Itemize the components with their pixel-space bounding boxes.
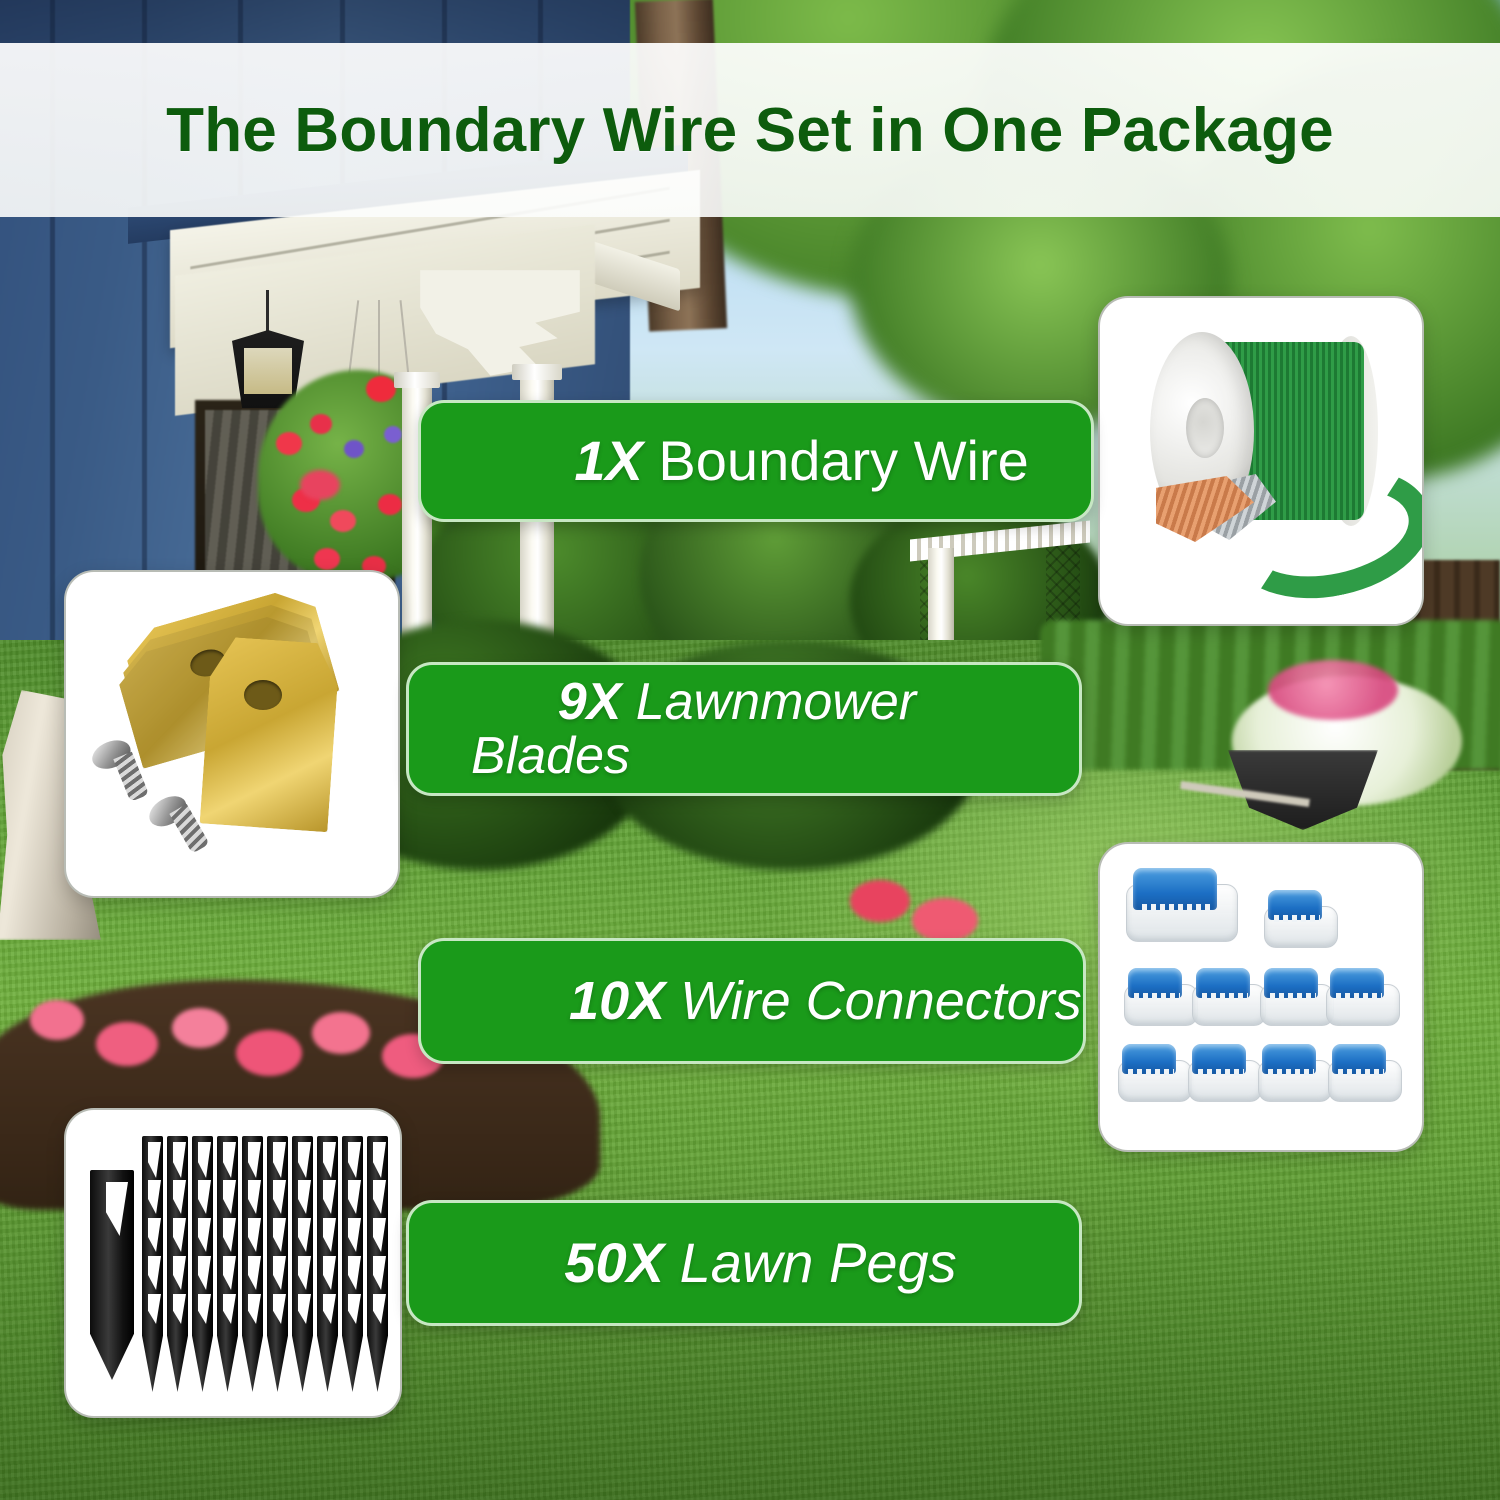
item-label: 10X Wire Connectors bbox=[479, 917, 1082, 1085]
item-bar-lawn-pegs[interactable]: 50X Lawn Pegs bbox=[406, 1200, 1082, 1326]
wire-connector bbox=[1192, 968, 1264, 1026]
item-bar-boundary-wire[interactable]: 1X Boundary Wire bbox=[418, 400, 1094, 522]
item-quantity: 50X bbox=[564, 1231, 664, 1294]
lawn-pegs-panel bbox=[64, 1108, 402, 1418]
wire-connector bbox=[1326, 968, 1398, 1026]
page-title: The Boundary Wire Set in One Package bbox=[0, 43, 1500, 217]
item-quantity: 9X bbox=[558, 673, 622, 731]
wire-connectors-panel bbox=[1098, 842, 1424, 1152]
item-name: Boundary Wire bbox=[658, 429, 1028, 492]
item-quantity: 10X bbox=[569, 971, 665, 1031]
product-infographic: The Boundary Wire Set in One Package 1X … bbox=[0, 0, 1500, 1500]
lawnmower-blades-panel bbox=[64, 570, 400, 898]
item-name: Wire Connectors bbox=[680, 971, 1082, 1031]
wire-connector bbox=[1260, 968, 1332, 1026]
lamp-chain bbox=[266, 290, 269, 332]
item-bar-wire-connectors[interactable]: 10X Wire Connectors bbox=[418, 938, 1086, 1064]
wire-connector bbox=[1124, 968, 1196, 1026]
title-banner: The Boundary Wire Set in One Package bbox=[0, 43, 1500, 217]
column-cap bbox=[394, 372, 440, 388]
wire-connector bbox=[1328, 1044, 1400, 1102]
pink-flowering-bush bbox=[1268, 660, 1398, 720]
wire-connector bbox=[1126, 868, 1236, 948]
item-bar-lawnmower-blades[interactable]: 9X Lawnmower Blades bbox=[406, 662, 1082, 796]
wire-connector bbox=[1118, 1044, 1190, 1102]
wire-connector bbox=[1258, 1044, 1330, 1102]
item-name: Lawn Pegs bbox=[680, 1231, 957, 1294]
lawnmower-blades-image bbox=[66, 572, 398, 896]
item-name: Lawnmower Blades bbox=[471, 673, 916, 785]
item-label: 50X Lawn Pegs bbox=[471, 1176, 957, 1351]
wire-spool-image bbox=[1124, 324, 1386, 574]
item-label: 1X Boundary Wire bbox=[481, 374, 1029, 549]
item-quantity: 1X bbox=[574, 429, 643, 492]
wire-connectors-image bbox=[1100, 844, 1422, 1150]
wire-connector bbox=[1188, 1044, 1260, 1102]
lawn-pegs-image bbox=[66, 1110, 400, 1416]
item-label: 9X Lawnmower Blades bbox=[471, 621, 916, 837]
wire-spool-panel bbox=[1098, 296, 1424, 626]
wire-connector bbox=[1264, 890, 1336, 948]
